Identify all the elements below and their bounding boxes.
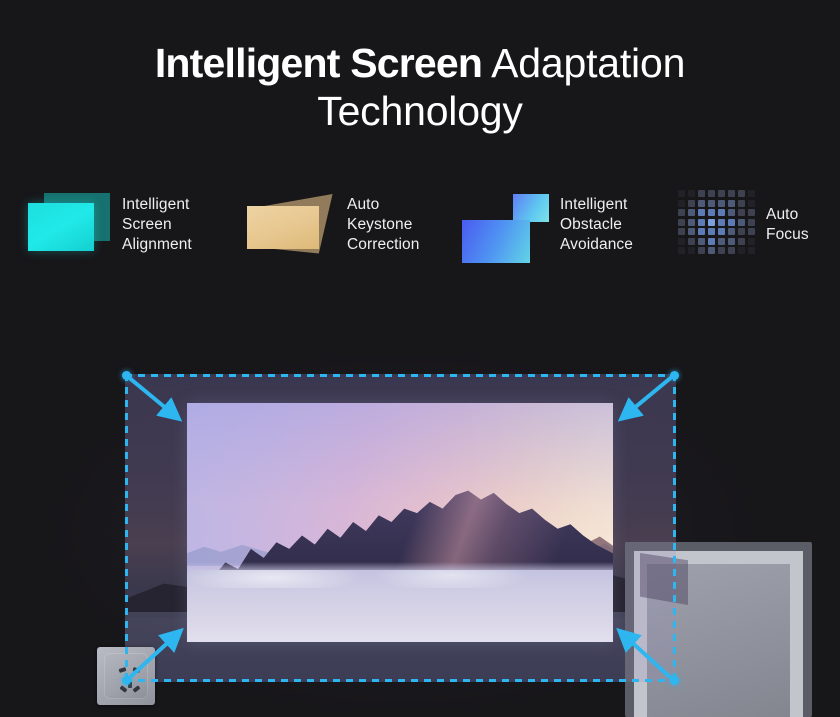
- focus-dot: [738, 228, 745, 235]
- keystone-corrected-rect: [247, 206, 319, 249]
- focus-dot: [728, 200, 735, 207]
- feature-list: Intelligent Screen Alignment Auto Keysto…: [0, 178, 840, 272]
- focus-dot: [748, 200, 755, 207]
- focus-dot: [718, 238, 725, 245]
- projected-image: [187, 403, 613, 642]
- feature-label-focus: Auto Focus: [766, 205, 809, 244]
- focus-dot: [748, 238, 755, 245]
- focus-dot: [748, 190, 755, 197]
- title-bold-part: Intelligent Screen: [155, 40, 482, 86]
- focus-dot: [688, 247, 695, 254]
- focus-dot: [718, 190, 725, 197]
- focus-dot: [738, 247, 745, 254]
- feature-label-alignment: Intelligent Screen Alignment: [122, 195, 192, 254]
- focus-dot: [718, 219, 725, 226]
- outlet-slot-top-left: [119, 667, 127, 673]
- focus-dot: [708, 219, 715, 226]
- focus-dot: [738, 238, 745, 245]
- photo-cloud-sea: [187, 570, 613, 642]
- outlet-slot-bottom-right: [133, 685, 141, 692]
- focus-dot: [718, 209, 725, 216]
- focus-dot: [708, 209, 715, 216]
- focus-dot: [688, 190, 695, 197]
- focus-dot: [678, 219, 685, 226]
- focus-dot: [728, 219, 735, 226]
- focus-dot: [688, 219, 695, 226]
- outlet-slot-top-right: [133, 667, 141, 673]
- page-root: Intelligent Screen Adaptation Technology…: [0, 0, 840, 717]
- feature-intelligent-screen-alignment[interactable]: Intelligent Screen Alignment: [28, 178, 192, 272]
- title-line-2: Technology: [0, 88, 840, 136]
- focus-dot: [698, 200, 705, 207]
- focus-dot: [708, 200, 715, 207]
- focus-dot: [728, 209, 735, 216]
- focus-dot: [708, 247, 715, 254]
- dot-matrix-icon: [678, 190, 756, 260]
- focus-dot: [698, 219, 705, 226]
- focus-dot: [738, 200, 745, 207]
- focus-dot: [748, 219, 755, 226]
- focus-dot: [728, 247, 735, 254]
- focus-dot: [748, 228, 755, 235]
- focus-dot: [698, 190, 705, 197]
- obstacle-large-block: [462, 220, 530, 263]
- focus-dot: [688, 200, 695, 207]
- outlet-inner-panel: [104, 653, 148, 699]
- focus-dot: [678, 228, 685, 235]
- focus-dot: [688, 238, 695, 245]
- focus-dot: [718, 247, 725, 254]
- focus-dot: [708, 228, 715, 235]
- offset-blocks-icon: [462, 192, 548, 258]
- focus-dot: [718, 228, 725, 235]
- focus-dot: [728, 238, 735, 245]
- focus-dot: [728, 190, 735, 197]
- focus-dot: [698, 247, 705, 254]
- focus-dot: [708, 190, 715, 197]
- focus-dot: [738, 190, 745, 197]
- focus-dot: [718, 200, 725, 207]
- feature-label-keystone: Auto Keystone Correction: [347, 195, 420, 254]
- focus-dot: [748, 247, 755, 254]
- focus-dot: [678, 238, 685, 245]
- focus-dot: [738, 219, 745, 226]
- focus-dot: [678, 247, 685, 254]
- focus-dot: [678, 200, 685, 207]
- picture-frame-obstacle: [625, 542, 812, 717]
- focus-dot: [708, 238, 715, 245]
- title-light-part: Adaptation: [482, 40, 685, 86]
- alignment-inner-rect: [28, 203, 94, 251]
- focus-dot: [678, 190, 685, 197]
- feature-auto-keystone-correction[interactable]: Auto Keystone Correction: [247, 178, 420, 272]
- focus-dot: [738, 209, 745, 216]
- page-title: Intelligent Screen Adaptation Technology: [0, 40, 840, 135]
- feature-label-obstacle: Intelligent Obstacle Avoidance: [560, 195, 633, 254]
- outlet-slot-bottom-left: [120, 685, 128, 692]
- wall-outlet: [97, 647, 155, 705]
- obstacle-small-block: [513, 194, 549, 222]
- feature-intelligent-obstacle-avoidance[interactable]: Intelligent Obstacle Avoidance: [462, 178, 633, 272]
- title-line-1: Intelligent Screen Adaptation: [0, 40, 840, 88]
- outlet-slot-ground: [128, 680, 132, 688]
- keystone-trapezoid-icon: [247, 192, 337, 258]
- focus-dot: [688, 228, 695, 235]
- focus-dot: [698, 209, 705, 216]
- focus-dot: [728, 228, 735, 235]
- feature-auto-focus[interactable]: Auto Focus: [678, 178, 809, 272]
- projection-scene: [0, 340, 840, 717]
- focus-dot: [678, 209, 685, 216]
- overlapping-rectangles-icon: [28, 193, 110, 257]
- focus-dot: [688, 209, 695, 216]
- focus-dot: [698, 238, 705, 245]
- focus-dot: [698, 228, 705, 235]
- frame-picture-area: [647, 564, 790, 717]
- focus-dot: [748, 209, 755, 216]
